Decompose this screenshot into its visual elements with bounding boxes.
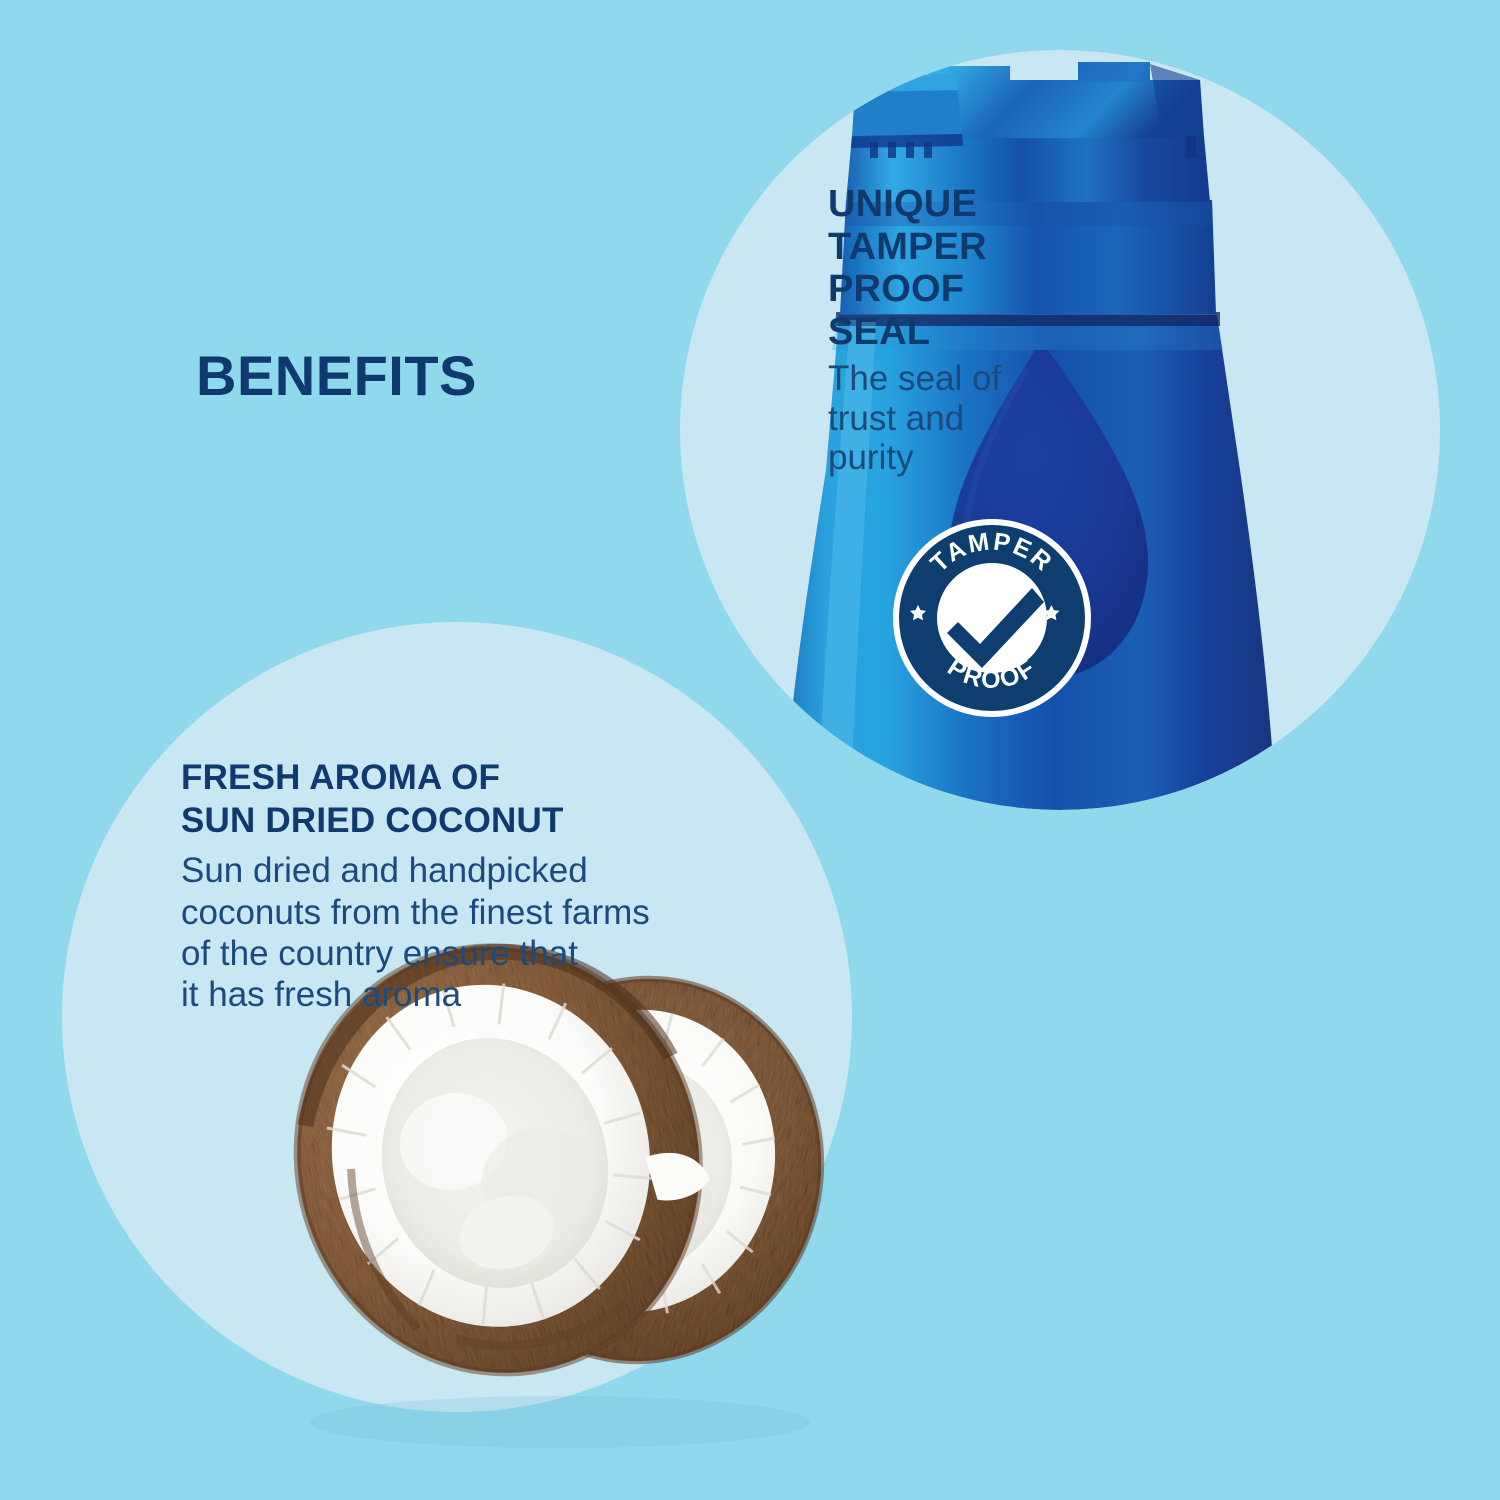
feature-coconut-body: Sun dried and handpicked coconuts from t…: [181, 850, 801, 1015]
heading-line: PROOF: [828, 268, 1058, 311]
heading-line: UNIQUE: [828, 183, 1058, 226]
feature-fresh-aroma-coconut: FRESH AROMA OF SUN DRIED COCONUT Sun dri…: [181, 757, 801, 1016]
body-line: trust and: [828, 399, 1058, 439]
feature-tamper-heading: UNIQUE TAMPER PROOF SEAL: [828, 183, 1058, 353]
heading-line: FRESH AROMA OF: [181, 757, 801, 800]
feature-tamper-body: The seal of trust and purity: [828, 359, 1058, 478]
body-line: purity: [828, 438, 1058, 478]
body-line: it has fresh aroma: [181, 974, 801, 1015]
body-line: of the country ensure that: [181, 933, 801, 974]
page-title: BENEFITS: [196, 348, 477, 404]
tamper-proof-badge: TAMPER PROOF: [892, 518, 1092, 718]
heading-line: SUN DRIED COCONUT: [181, 800, 801, 843]
body-line: coconuts from the finest farms: [181, 892, 801, 933]
feature-coconut-heading: FRESH AROMA OF SUN DRIED COCONUT: [181, 757, 801, 842]
body-line: Sun dried and handpicked: [181, 850, 801, 891]
heading-line: TAMPER: [828, 226, 1058, 269]
infographic-canvas: BENEFITS UNIQUE TAMPER PROOF SEAL The se…: [0, 0, 1500, 1500]
body-line: The seal of: [828, 359, 1058, 399]
feature-tamper-proof-seal: UNIQUE TAMPER PROOF SEAL The seal of tru…: [828, 183, 1058, 478]
heading-line: SEAL: [828, 311, 1058, 354]
